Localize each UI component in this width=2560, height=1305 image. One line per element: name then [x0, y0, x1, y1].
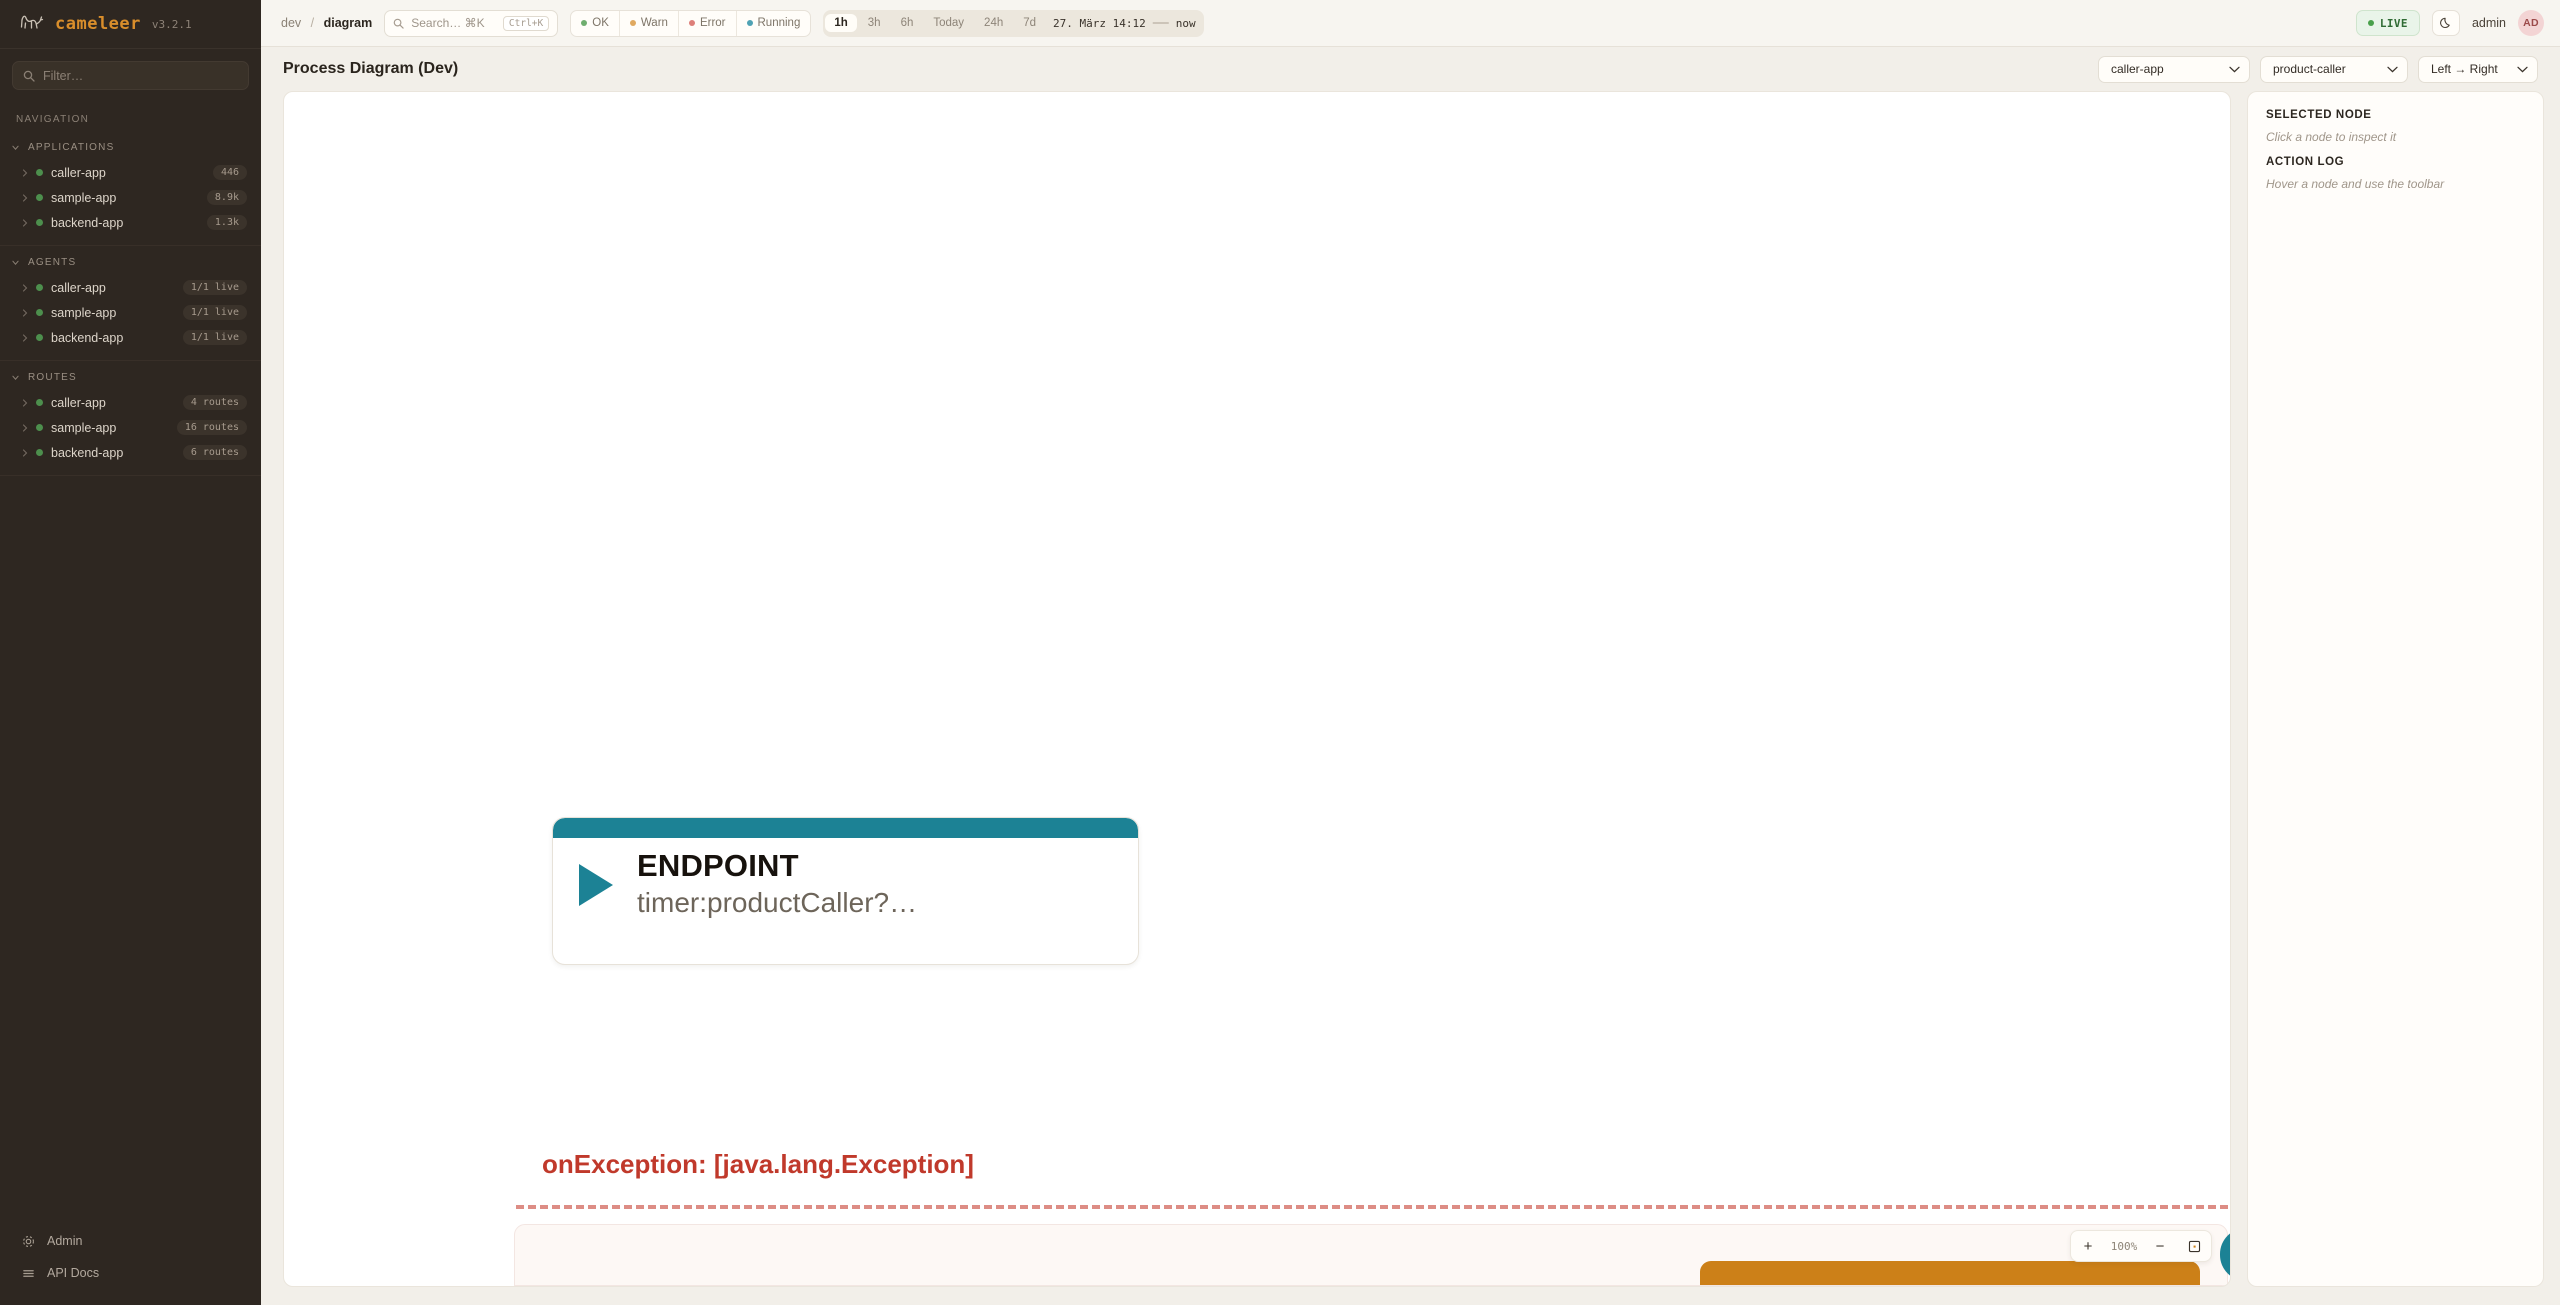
search-placeholder: Search… ⌘K	[411, 16, 496, 30]
zoom-out-button[interactable]: −	[2143, 1231, 2177, 1261]
group-label: APPLICATIONS	[28, 142, 114, 153]
status-dot	[747, 20, 753, 26]
sidebar-item-label: API Docs	[47, 1266, 99, 1280]
sidebar-item-applications-sample-app[interactable]: sample-app 8.9k	[0, 185, 261, 210]
status-dot	[36, 194, 43, 201]
route-select-value: product-caller	[2273, 62, 2377, 76]
sidebar-item-label: sample-app	[51, 421, 169, 435]
status-chip-error[interactable]: Error	[679, 11, 737, 36]
status-filter-group: OK Warn Error Running	[570, 10, 811, 37]
application-select[interactable]: caller-app	[2098, 56, 2250, 83]
sidebar-item-api-docs[interactable]: API Docs	[0, 1257, 261, 1289]
live-label: LIVE	[2380, 17, 2408, 30]
group-header-applications[interactable]: APPLICATIONS	[0, 135, 261, 160]
sidebar-item-label: backend-app	[51, 446, 175, 460]
sidebar-item-applications-backend-app[interactable]: backend-app 1.3k	[0, 210, 261, 235]
sidebar-item-badge: 446	[213, 165, 247, 180]
sidebar-group-agents: AGENTS caller-app 1/1 live sample-app 1/…	[0, 246, 261, 361]
time-range-today[interactable]: Today	[924, 14, 973, 32]
time-range-group: 1h 3h 6h Today 24h 7d 27. März 14:12 — n…	[823, 10, 1203, 37]
group-label: ROUTES	[28, 372, 77, 383]
status-dot	[630, 20, 636, 26]
status-dot	[689, 20, 695, 26]
group-header-routes[interactable]: ROUTES	[0, 365, 261, 390]
breadcrumb-root[interactable]: dev	[281, 16, 301, 30]
main-area: dev / diagram Search… ⌘K Ctrl+K OK	[261, 0, 2560, 1305]
chevron-down-icon	[2387, 66, 2398, 73]
breadcrumb-separator: /	[311, 16, 314, 30]
status-chip-ok[interactable]: OK	[571, 11, 620, 36]
status-dot	[581, 20, 587, 26]
route-select[interactable]: product-caller	[2260, 56, 2408, 83]
sidebar-item-routes-backend-app[interactable]: backend-app 6 routes	[0, 440, 261, 465]
status-chip-label: Running	[758, 17, 801, 29]
list-icon	[22, 1267, 35, 1280]
node-text: ENDPOINT timer:productCaller?…	[637, 850, 917, 920]
content-area: ENDPOINT timer:productCaller?… onExcepti…	[261, 91, 2560, 1305]
sidebar-item-label: backend-app	[51, 331, 175, 345]
status-dot	[36, 399, 43, 406]
sidebar-item-routes-sample-app[interactable]: sample-app 16 routes	[0, 415, 261, 440]
sidebar-item-badge: 1/1 live	[183, 280, 247, 295]
sidebar-item-label: backend-app	[51, 216, 199, 230]
node-uri-label: timer:productCaller?…	[637, 885, 917, 920]
fit-view-button[interactable]	[2177, 1231, 2211, 1261]
exception-zone: TRACE	[514, 1224, 2228, 1286]
sidebar-item-badge: 1/1 live	[183, 305, 247, 320]
zoom-in-button[interactable]: +	[2071, 1231, 2105, 1261]
time-range-dash: —	[1153, 14, 1169, 32]
status-dot	[36, 284, 43, 291]
chevron-right-icon	[22, 219, 28, 227]
time-range-24h[interactable]: 24h	[975, 14, 1012, 32]
moon-icon	[2439, 16, 2453, 30]
sidebar-item-agents-caller-app[interactable]: caller-app 1/1 live	[0, 275, 261, 300]
gear-icon	[22, 1235, 35, 1248]
chevron-right-icon	[22, 424, 28, 432]
diagram-node-orange-left[interactable]	[1700, 1261, 2200, 1285]
direction-select[interactable]: Left → Right	[2418, 56, 2538, 83]
sidebar-item-label: caller-app	[51, 396, 175, 410]
status-dot	[36, 309, 43, 316]
filter-box[interactable]	[12, 61, 249, 90]
page-header: Process Diagram (Dev) caller-app product…	[261, 47, 2560, 91]
navigation-heading: NAVIGATION	[0, 100, 261, 131]
app-root: cameleer v3.2.1 NAVIGATION APPLICATIONS	[0, 0, 2560, 1305]
zoom-level-label: 100%	[2105, 1240, 2143, 1253]
fit-view-icon	[2188, 1240, 2201, 1253]
time-range-3h[interactable]: 3h	[859, 14, 890, 32]
sidebar-footer: Admin API Docs	[0, 1225, 261, 1305]
time-range-1h[interactable]: 1h	[825, 14, 856, 32]
sidebar-item-badge: 16 routes	[177, 420, 247, 435]
status-dot	[36, 219, 43, 226]
chevron-down-icon	[12, 144, 19, 151]
sidebar-item-badge: 6 routes	[183, 445, 247, 460]
time-range-absolute-start[interactable]: 27. März 14:12	[1053, 17, 1146, 30]
chevron-right-icon	[22, 334, 28, 342]
inspector-panel: SELECTED NODE Click a node to inspect it…	[2247, 91, 2544, 1287]
camel-icon	[18, 12, 44, 36]
zoom-controls: + 100% −	[2070, 1230, 2212, 1262]
search-input[interactable]: Search… ⌘K Ctrl+K	[384, 10, 558, 37]
sidebar: cameleer v3.2.1 NAVIGATION APPLICATIONS	[0, 0, 261, 1305]
topbar: dev / diagram Search… ⌘K Ctrl+K OK	[261, 0, 2560, 47]
group-header-agents[interactable]: AGENTS	[0, 250, 261, 275]
action-log-heading: ACTION LOG	[2266, 156, 2525, 168]
chevron-right-icon	[22, 399, 28, 407]
chevron-down-icon	[12, 374, 19, 381]
play-icon	[579, 864, 613, 906]
time-range-absolute-end[interactable]: now	[1176, 17, 1196, 30]
sidebar-item-badge: 1.3k	[207, 215, 247, 230]
sidebar-item-label: caller-app	[51, 281, 175, 295]
sidebar-filter	[0, 49, 261, 100]
chevron-down-icon	[2229, 66, 2240, 73]
diagram-node-endpoint[interactable]: ENDPOINT timer:productCaller?…	[552, 817, 1139, 965]
group-label: AGENTS	[28, 257, 76, 268]
status-chip-warn[interactable]: Warn	[620, 11, 679, 36]
brand-version: v3.2.1	[152, 18, 192, 31]
chevron-right-icon	[22, 194, 28, 202]
time-range-7d[interactable]: 7d	[1014, 14, 1045, 32]
live-badge[interactable]: LIVE	[2356, 10, 2420, 36]
status-dot	[36, 169, 43, 176]
diagram-controls: caller-app product-caller Left → Right	[2098, 56, 2538, 83]
breadcrumb-current: diagram	[324, 16, 373, 30]
sidebar-item-routes-caller-app[interactable]: caller-app 4 routes	[0, 390, 261, 415]
page-title: Process Diagram (Dev)	[283, 60, 458, 78]
brand-name: cameleer	[55, 14, 141, 34]
application-select-value: caller-app	[2111, 62, 2219, 76]
sidebar-item-label: Admin	[47, 1234, 82, 1248]
node-header-bar	[553, 818, 1138, 838]
time-range-6h[interactable]: 6h	[892, 14, 923, 32]
chevron-right-icon	[22, 449, 28, 457]
chevron-right-icon	[22, 309, 28, 317]
action-log-hint: Hover a node and use the toolbar	[2266, 177, 2525, 191]
exception-label: onException: [java.lang.Exception]	[542, 1149, 974, 1180]
sidebar-item-badge: 1/1 live	[183, 330, 247, 345]
status-chip-label: OK	[592, 17, 609, 29]
filter-input[interactable]	[43, 69, 238, 83]
node-kind-label: ENDPOINT	[637, 850, 917, 883]
search-icon	[23, 70, 35, 82]
sidebar-group-applications: APPLICATIONS caller-app 446 sample-app 8…	[0, 131, 261, 246]
sidebar-item-agents-backend-app[interactable]: backend-app 1/1 live	[0, 325, 261, 350]
search-shortcut-badge: Ctrl+K	[503, 16, 549, 31]
direction-select-value: Left → Right	[2431, 62, 2507, 76]
sidebar-item-label: caller-app	[51, 166, 205, 180]
status-dot	[36, 424, 43, 431]
exception-divider	[516, 1205, 2228, 1209]
chevron-right-icon	[22, 169, 28, 177]
chevron-right-icon	[22, 284, 28, 292]
sidebar-item-label: sample-app	[51, 191, 199, 205]
breadcrumb: dev / diagram	[281, 16, 372, 30]
search-icon	[393, 18, 404, 29]
selected-node-heading: SELECTED NODE	[2266, 109, 2525, 121]
brand[interactable]: cameleer v3.2.1	[0, 0, 261, 49]
sidebar-item-badge: 8.9k	[207, 190, 247, 205]
sidebar-item-admin[interactable]: Admin	[0, 1225, 261, 1257]
status-dot	[36, 449, 43, 456]
user-name[interactable]: admin	[2472, 16, 2506, 30]
status-chip-label: Warn	[641, 17, 668, 29]
sidebar-item-label: sample-app	[51, 306, 175, 320]
chevron-down-icon	[12, 259, 19, 266]
status-chip-label: Error	[700, 17, 726, 29]
status-dot	[36, 334, 43, 341]
sidebar-item-agents-sample-app[interactable]: sample-app 1/1 live	[0, 300, 261, 325]
diagram-canvas[interactable]: ENDPOINT timer:productCaller?… onExcepti…	[283, 91, 2231, 1287]
avatar[interactable]: AD	[2518, 10, 2544, 36]
theme-toggle-button[interactable]	[2432, 10, 2460, 36]
sidebar-group-routes: ROUTES caller-app 4 routes sample-app 16…	[0, 361, 261, 476]
sidebar-item-applications-caller-app[interactable]: caller-app 446	[0, 160, 261, 185]
chevron-down-icon	[2517, 66, 2528, 73]
status-chip-running[interactable]: Running	[737, 11, 811, 36]
selected-node-hint: Click a node to inspect it	[2266, 130, 2525, 144]
node-body: ENDPOINT timer:productCaller?…	[553, 838, 1138, 920]
trace-badge[interactable]: TRACE	[2220, 1228, 2231, 1281]
live-dot	[2368, 20, 2374, 26]
sidebar-item-badge: 4 routes	[183, 395, 247, 410]
